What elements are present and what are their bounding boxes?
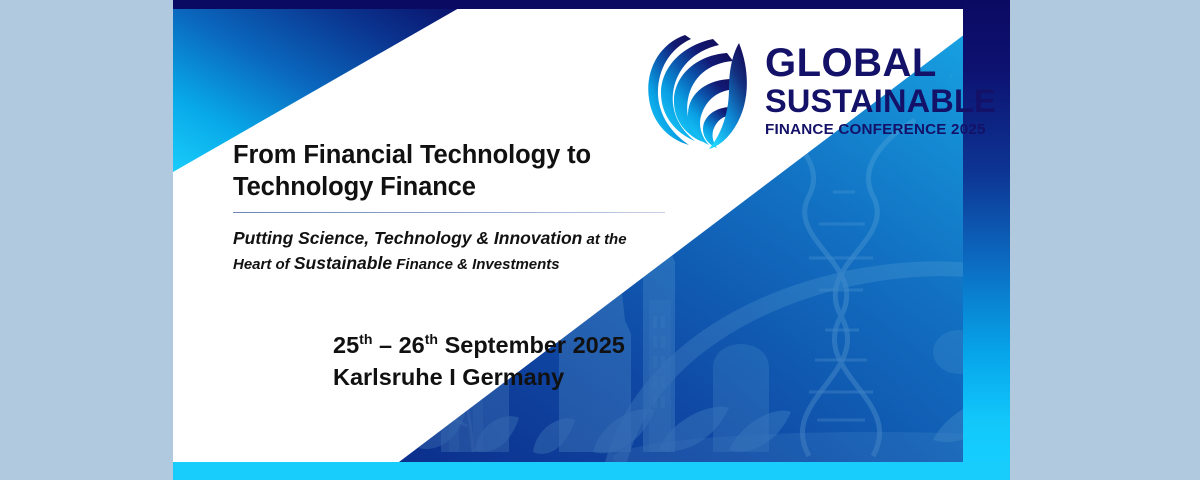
date-day-from-suffix: th [359,331,372,347]
event-date: 25th – 26th September 2025 [333,330,625,362]
title-line-1: From Financial Technology to [233,140,653,172]
slide-canvas: GLOBAL SUSTAINABLE FINANCE CONFERENCE 20… [0,0,1200,480]
title-line-2: Technology Finance [233,172,653,204]
subtitle-line-2: Heart of Sustainable Finance & Investmen… [233,251,663,276]
subtitle-tail-2: Finance & Investments [392,256,560,273]
slide-subtitle: Putting Science, Technology & Innovation… [233,226,663,277]
date-range-dash: – [372,332,398,358]
date-day-from: 25 [333,332,359,358]
date-day-to-suffix: th [425,331,438,347]
subtitle-emphasis-sustainable: Sustainable [294,253,392,273]
subtitle-lead-2: Heart of [233,256,294,273]
subtitle-line-1: Putting Science, Technology & Innovation… [233,226,663,251]
event-details: 25th – 26th September 2025 Karlsruhe I G… [333,330,625,394]
slide-content: From Financial Technology to Technology … [173,0,1010,480]
subtitle-tail-1: at the [582,231,626,248]
date-day-to: 26 [399,332,425,358]
page-title: From Financial Technology to Technology … [233,140,653,203]
conference-title-slide: GLOBAL SUSTAINABLE FINANCE CONFERENCE 20… [173,0,1010,480]
subtitle-lead-1: Putting Science, Technology & Innovation [233,228,582,248]
title-divider [233,212,665,213]
event-location: Karlsruhe I Germany [333,362,625,394]
date-month-year: September 2025 [438,332,625,358]
